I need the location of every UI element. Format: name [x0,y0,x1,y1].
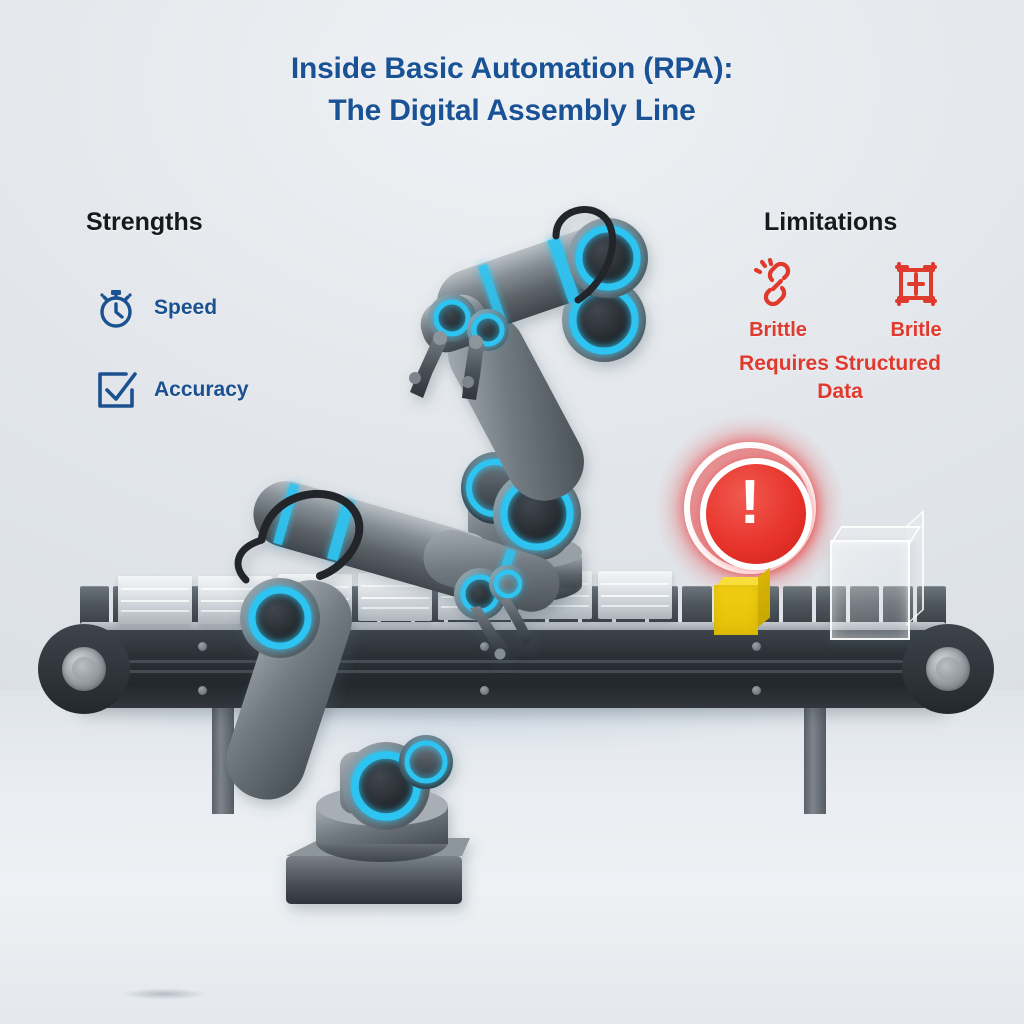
lower-robot-base-plate [286,856,462,904]
infographic-canvas: Inside Basic Automation (RPA): The Digit… [0,0,1024,1024]
robot-cable [238,540,262,580]
robot-arms-group [0,0,1024,1024]
ground-shadow [104,986,224,1002]
upper-robot-gripper [409,331,484,400]
